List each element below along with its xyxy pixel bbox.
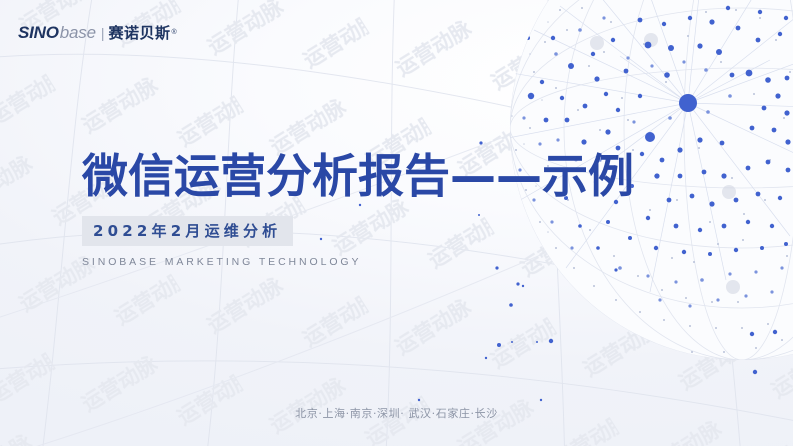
title-slide: 运营动脉 运营动脉	[0, 0, 793, 446]
subtitle-chinese: 2022年2月运维分析	[93, 222, 281, 240]
logo-chinese-text: 赛诺贝斯	[108, 22, 170, 43]
registered-mark-icon: ®	[172, 29, 177, 36]
page-title: 微信运营分析报告——示例	[82, 152, 634, 202]
footer-cities: 北京·上海·南京·深圳· 武汉·石家庄·长沙	[0, 405, 793, 421]
logo-divider: |	[101, 25, 105, 41]
headline-block: 微信运营分析报告——示例 2022年2月运维分析 SINOBASE MARKET…	[82, 152, 634, 268]
subtitle-english: SINOBASE MARKETING TECHNOLOGY	[82, 256, 634, 268]
logo-sino-text: SINO	[18, 23, 59, 43]
sinobase-logo: SINObase | 赛诺贝斯®	[18, 22, 177, 43]
logo-base-text: base	[60, 23, 96, 43]
subtitle-band: 2022年2月运维分析	[82, 216, 293, 246]
